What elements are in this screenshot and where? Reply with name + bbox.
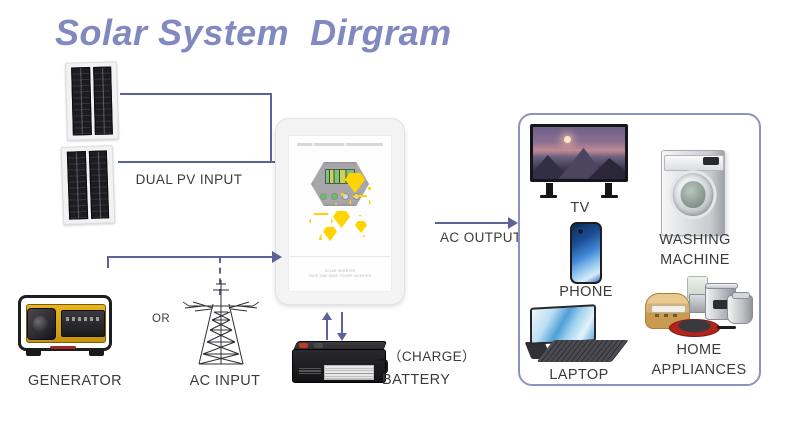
ac-output-line xyxy=(435,222,513,224)
gem-icon xyxy=(355,221,367,233)
label-washing-machine-line-2: MACHINE xyxy=(640,252,750,268)
label-dual-pv-input: DUAL PV INPUT xyxy=(124,172,254,187)
label-generator: GENERATOR xyxy=(10,373,140,389)
solar-cell-column xyxy=(93,66,113,134)
inverter-front-face: SOLAR INVERTER PURE SINE WAVE POWER INVE… xyxy=(288,135,392,292)
solar-panel-cells xyxy=(71,66,113,135)
generator-engine xyxy=(27,308,55,339)
gem-icon xyxy=(333,211,350,228)
phone-camera-icon xyxy=(577,228,584,235)
home-appliances-icon xyxy=(645,276,753,338)
ac-input-line-horizontal xyxy=(107,256,277,258)
label-ac-output: AC OUTPUT xyxy=(440,230,520,245)
washing-machine-door xyxy=(670,170,717,220)
laptop-keyboard xyxy=(536,340,629,362)
blender-base xyxy=(689,294,706,313)
label-laptop: LAPTOP xyxy=(534,367,624,383)
solar-cell-column xyxy=(67,151,88,220)
tv-icon xyxy=(530,124,628,198)
kettle-lid xyxy=(732,292,750,299)
tv-screen xyxy=(530,124,628,182)
pot-lid xyxy=(705,283,738,290)
battery-print-text xyxy=(299,366,321,376)
battery-body xyxy=(292,349,386,383)
generator-icon xyxy=(18,295,112,351)
blender-icon xyxy=(686,276,708,313)
label-phone: PHONE xyxy=(546,284,626,300)
tv-stand-foot xyxy=(540,195,558,198)
inverter-divider xyxy=(289,256,391,257)
battery-line-up xyxy=(326,318,328,340)
tv-wallpaper-sun xyxy=(564,136,571,143)
washing-machine-display xyxy=(703,157,719,165)
label-ac-input: AC INPUT xyxy=(170,373,280,389)
generator-foot xyxy=(89,349,104,356)
pot-window xyxy=(713,300,729,309)
label-charge: （CHARGE） xyxy=(388,345,480,365)
solar-cell-column xyxy=(88,150,109,219)
battery-terminal-positive xyxy=(314,343,323,348)
label-or: OR xyxy=(140,313,182,325)
laptop-icon xyxy=(528,306,620,362)
transmission-tower-icon xyxy=(183,278,259,368)
solar-panel-cells xyxy=(67,150,109,219)
pv-line-vertical xyxy=(270,93,272,163)
diagram-canvas: Solar System Dirgram DUAL PV INPUT xyxy=(0,0,800,442)
inverter-unit: SOLAR INVERTER PURE SINE WAVE POWER INVE… xyxy=(275,118,405,305)
ac-output-arrowhead xyxy=(508,217,518,229)
solar-panel-bottom xyxy=(61,145,116,225)
generator-control-panel xyxy=(61,310,104,338)
inverter-vent-slots xyxy=(297,143,383,146)
gem-icon xyxy=(345,173,365,193)
gem-dot xyxy=(341,193,344,196)
battery-line-down xyxy=(341,312,343,334)
battery-arrow-down xyxy=(337,333,347,341)
label-tv: TV xyxy=(540,200,620,216)
inverter-branding: SOLAR INVERTER PURE SINE WAVE POWER INVE… xyxy=(289,269,391,279)
gem-dot xyxy=(319,237,322,240)
label-home-appliances-line-1: HOME xyxy=(644,342,754,358)
laptop-screen xyxy=(530,304,596,344)
pv-line-top-horizontal xyxy=(120,93,272,95)
label-battery: BATTERY xyxy=(382,372,474,388)
solar-cell-column xyxy=(71,67,91,135)
kettle-icon xyxy=(727,295,753,324)
solar-panel-top xyxy=(65,61,119,140)
generator-red-stripe xyxy=(50,346,76,349)
gem-outline-icon xyxy=(349,195,371,217)
pv-line-bottom-horizontal xyxy=(118,161,278,163)
gem-dot xyxy=(363,235,365,237)
generator-foot xyxy=(26,349,41,356)
battery-spec-label xyxy=(324,365,374,380)
frying-pan-icon xyxy=(669,319,721,337)
phone-icon xyxy=(570,222,602,284)
label-washing-machine-line-1: WASHING xyxy=(640,232,750,248)
tv-stand-foot xyxy=(601,195,619,198)
ac-input-arrowhead xyxy=(272,251,282,263)
gem-dot xyxy=(368,187,371,190)
gem-decoration-cluster xyxy=(305,169,383,247)
washing-machine-icon xyxy=(661,150,725,236)
gem-dot xyxy=(335,203,337,205)
battery-icon xyxy=(292,341,384,383)
battery-terminal-negative xyxy=(299,343,308,348)
page-title: Solar System Dirgram xyxy=(55,12,452,54)
inverter-brand-line-2: PURE SINE WAVE POWER INVERTER xyxy=(289,274,391,279)
gem-icon xyxy=(323,227,337,241)
label-home-appliances-line-2: APPLIANCES xyxy=(634,362,764,378)
